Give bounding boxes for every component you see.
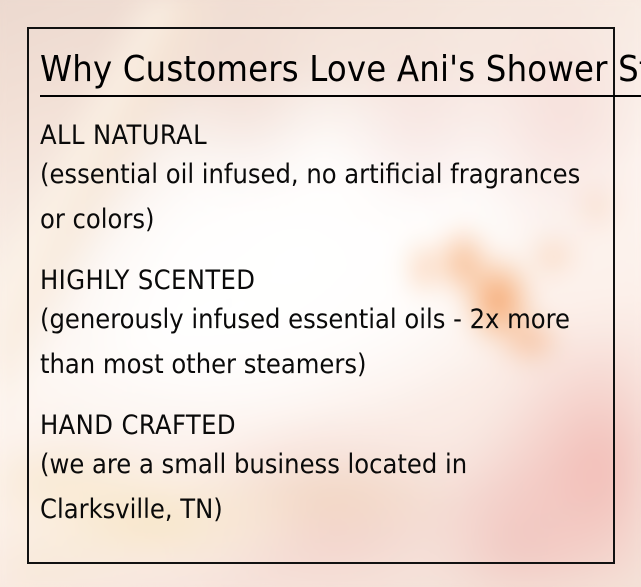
benefit-detail: (generously infused essential oils - 2x …: [40, 297, 600, 387]
benefit-detail: (we are a small business located in Clar…: [40, 442, 600, 532]
benefit-title: HIGHLY SCENTED: [40, 264, 612, 297]
benefit-item-all-natural: ALL NATURAL (essential oil infused, no a…: [40, 119, 612, 242]
benefit-title: ALL NATURAL: [40, 119, 612, 152]
promo-graphic: Why Customers Love Ani's Shower Steamers…: [0, 0, 641, 587]
content-area: Why Customers Love Ani's Shower Steamers…: [40, 48, 612, 532]
benefit-item-hand-crafted: HAND CRAFTED (we are a small business lo…: [40, 409, 612, 532]
benefit-detail: (essential oil infused, no artificial fr…: [40, 152, 600, 242]
benefit-title: HAND CRAFTED: [40, 409, 612, 442]
page-title: Why Customers Love Ani's Shower Steamers…: [40, 48, 641, 97]
benefit-item-highly-scented: HIGHLY SCENTED (generously infused essen…: [40, 264, 612, 387]
